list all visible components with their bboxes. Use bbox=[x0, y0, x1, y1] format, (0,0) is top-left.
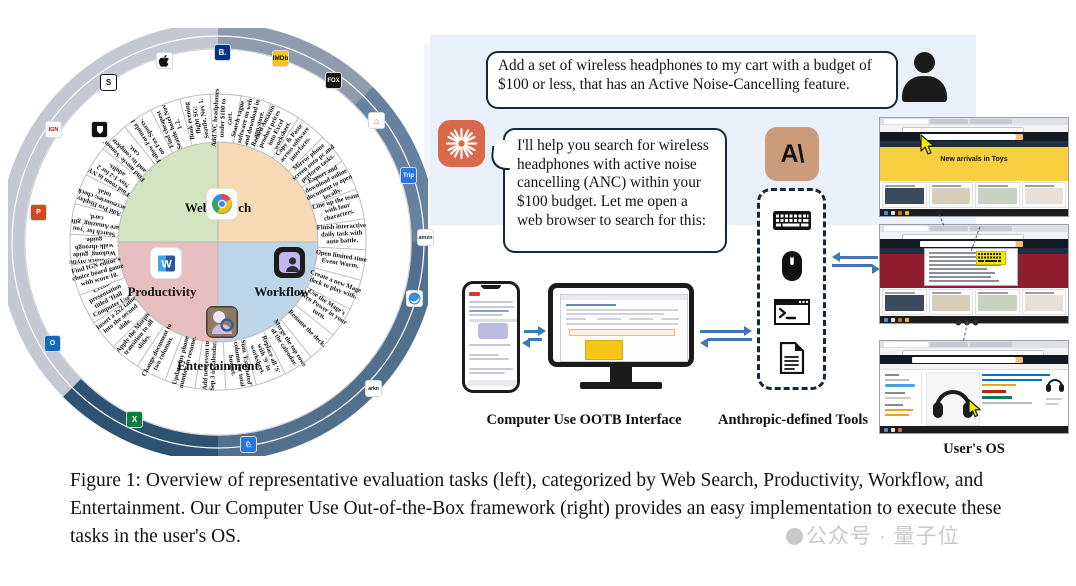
right-rail bbox=[1044, 372, 1066, 424]
monitor-thumbnail bbox=[585, 340, 623, 360]
hero-text: New arrivals in Toys bbox=[940, 156, 1007, 163]
phone-line bbox=[469, 344, 511, 346]
phone-line bbox=[469, 368, 513, 370]
tools-label: Anthropic-defined Tools bbox=[714, 411, 872, 429]
monitor-highlight-box bbox=[569, 329, 675, 336]
product-card[interactable] bbox=[975, 182, 1020, 208]
monitor-line bbox=[566, 318, 586, 320]
apple-icon bbox=[156, 52, 173, 69]
terminal-icon bbox=[771, 295, 813, 329]
amazon-search-input[interactable] bbox=[912, 357, 1016, 363]
task-wheel-diagram: Find 'Black Myth:Wukong' guidewalk-throu… bbox=[8, 28, 428, 456]
phone-line bbox=[469, 358, 509, 360]
amazon-hero-banner: New arrivals in Toys bbox=[880, 147, 1068, 181]
phone-divider bbox=[469, 319, 517, 322]
product-card[interactable] bbox=[975, 289, 1020, 315]
trip-icon: Trip bbox=[400, 167, 417, 184]
product-card[interactable] bbox=[929, 182, 974, 208]
watermark-dot bbox=[786, 528, 803, 545]
os-taskbar bbox=[880, 426, 1068, 433]
fox-icon: FOX bbox=[325, 72, 342, 89]
browser-tabbar bbox=[880, 225, 1068, 232]
mouse-icon bbox=[771, 249, 813, 283]
file-icon bbox=[771, 341, 813, 375]
monitor-line bbox=[597, 318, 621, 320]
user-message-bubble: Add a set of wireless headphones to my c… bbox=[486, 51, 898, 109]
amazon-icon: amzn bbox=[417, 229, 434, 246]
assistant-sun-icon bbox=[438, 120, 485, 167]
anthropic-logo-icon: A\ bbox=[765, 127, 819, 181]
monitor-screen bbox=[548, 283, 694, 367]
user-avatar bbox=[900, 52, 948, 102]
phone-navbar bbox=[468, 380, 518, 386]
results-bar bbox=[880, 364, 1068, 370]
quadrant-label-entertainment: Entertainment bbox=[177, 358, 259, 373]
browser-tabbar bbox=[880, 118, 1068, 125]
interface-label: Computer Use OOTB Interface bbox=[468, 411, 700, 429]
edge-icon bbox=[406, 290, 423, 307]
monitor-mockup bbox=[548, 283, 694, 391]
avatar-body bbox=[902, 76, 947, 102]
amazon-search-button[interactable] bbox=[1016, 241, 1023, 247]
screenshot-step-1: New arrivals in Toys bbox=[879, 117, 1069, 217]
phone-line bbox=[469, 372, 505, 374]
assistant-message-text: I'll help you search for wireless headph… bbox=[517, 137, 709, 229]
phone-notch bbox=[481, 285, 501, 289]
watermark: 公众号 · 量子位 bbox=[786, 520, 960, 550]
svg-text:W: W bbox=[161, 258, 172, 270]
epic-games-icon bbox=[91, 121, 108, 138]
product-cards bbox=[880, 289, 1068, 315]
airbnb-icon: ⌂ bbox=[368, 112, 385, 129]
arknights-icon: arkn bbox=[365, 380, 382, 397]
shein-icon: S bbox=[100, 74, 117, 91]
phone-line bbox=[469, 314, 503, 316]
user-message-text: Add a set of wireless headphones to my c… bbox=[498, 57, 872, 93]
screenshot-ellipsis: ••• bbox=[955, 313, 981, 335]
quadrant-label-productivity: Productivity bbox=[127, 284, 197, 299]
hearthstone-icon: ♘ bbox=[240, 436, 257, 453]
excel-icon: X bbox=[126, 411, 143, 428]
os-label: User's OS bbox=[896, 440, 1052, 458]
monitor-titlebar bbox=[561, 295, 687, 300]
quadrant-label-workflow: Workflow bbox=[254, 284, 310, 299]
product-card[interactable] bbox=[882, 182, 927, 208]
phone-line bbox=[469, 354, 499, 356]
imdb-icon: IMDb bbox=[272, 50, 289, 67]
avatar-head bbox=[914, 52, 935, 73]
phone-content-block bbox=[478, 323, 508, 339]
filter-sidebar[interactable] bbox=[883, 372, 922, 424]
monitor-neck bbox=[610, 367, 632, 382]
os-taskbar bbox=[880, 209, 1068, 216]
monitor-browser-content bbox=[560, 294, 688, 362]
monitor-line bbox=[661, 318, 679, 320]
monitor-heading bbox=[566, 304, 616, 306]
product-card[interactable] bbox=[882, 289, 927, 315]
chrome-icon bbox=[206, 188, 238, 220]
workflow-icon bbox=[274, 247, 305, 278]
keyboard-icon bbox=[771, 203, 813, 237]
assistant-message-bubble: I'll help you search for wireless headph… bbox=[503, 128, 727, 253]
word-icon: W bbox=[150, 247, 182, 279]
monitor-line bbox=[629, 318, 653, 320]
phone-mockup bbox=[462, 281, 520, 393]
product-card[interactable] bbox=[1022, 289, 1067, 315]
product-details bbox=[982, 374, 1050, 404]
monitor-base bbox=[580, 382, 662, 389]
booking-icon: B. bbox=[214, 44, 231, 61]
monitor-line bbox=[566, 313, 664, 315]
phone-logo bbox=[469, 292, 480, 296]
outlook-icon: O bbox=[44, 335, 61, 352]
powerpoint-icon: P bbox=[30, 204, 47, 221]
monitor-line bbox=[566, 309, 678, 311]
figure-container: Find 'Black Myth:Wukong' guidewalk-throu… bbox=[0, 0, 1076, 586]
product-card[interactable] bbox=[929, 289, 974, 315]
phone-line bbox=[469, 306, 515, 308]
ign-icon: IGN bbox=[45, 121, 62, 138]
amazon-search-button[interactable] bbox=[1016, 357, 1023, 363]
amazon-search-input[interactable] bbox=[920, 241, 1016, 247]
amazon-search-button[interactable] bbox=[1016, 134, 1023, 140]
phone-line bbox=[469, 301, 513, 303]
watermark-text: 公众号 · 量子位 bbox=[806, 525, 960, 548]
anthropic-tools-box bbox=[757, 188, 826, 390]
entertainment-game-icon bbox=[206, 306, 238, 338]
screenshot-step-3 bbox=[879, 340, 1069, 434]
product-card[interactable] bbox=[1022, 182, 1067, 208]
product-cards bbox=[880, 182, 1068, 208]
keyboard-highlight bbox=[976, 251, 1006, 265]
monitor-line bbox=[566, 323, 678, 325]
phone-link bbox=[469, 310, 509, 312]
browser-tabbar bbox=[880, 341, 1068, 348]
